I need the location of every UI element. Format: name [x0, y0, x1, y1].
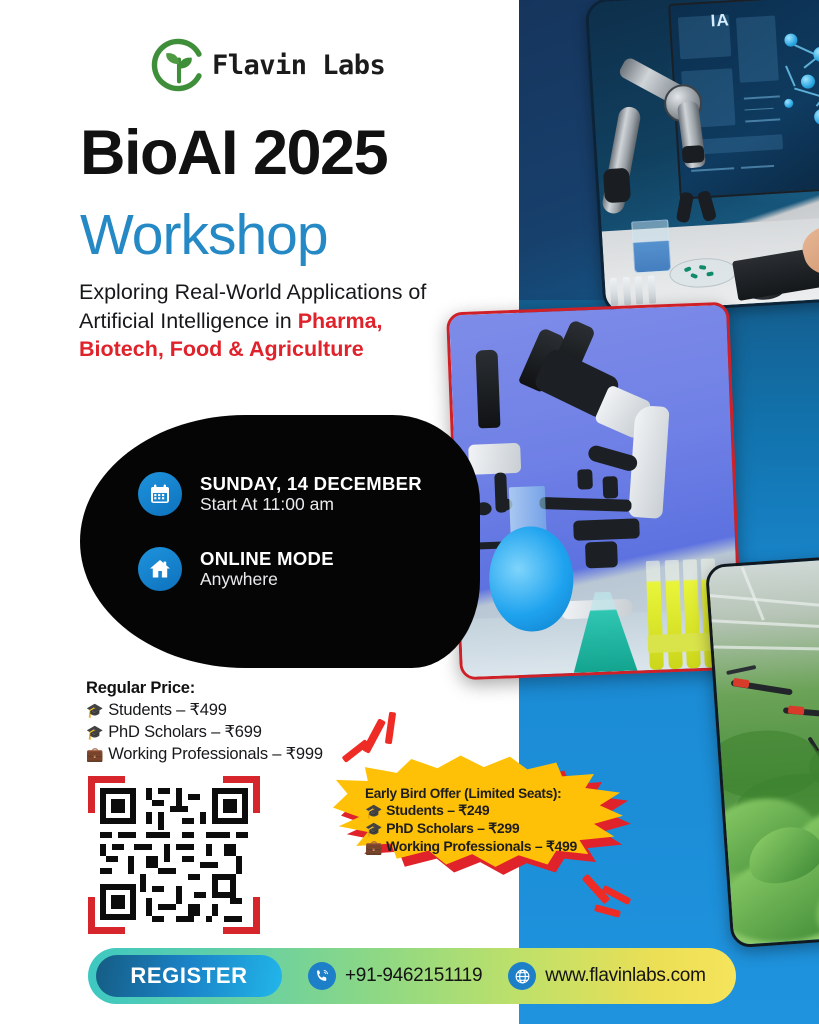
tagline: Exploring Real-World Applications of Art… — [79, 278, 439, 364]
event-mode-desc: Anywhere — [200, 569, 334, 590]
brand-logo: Flavin Labs — [150, 36, 385, 94]
event-details-panel — [80, 415, 480, 668]
regular-price-item: 🎓 PhD Scholars – ₹699 — [86, 722, 386, 742]
event-mode-row: ONLINE MODE Anywhere — [138, 547, 334, 591]
footer-contact-bar: REGISTER +91-9462151119 www.flavinlabs.c… — [88, 948, 736, 1004]
poster-canvas: IA — [0, 0, 819, 1024]
phone-contact[interactable]: +91-9462151119 — [308, 962, 482, 990]
qr-corner-mark — [223, 897, 260, 934]
event-date-row: SUNDAY, 14 DECEMBER Start At 11:00 am — [138, 472, 422, 516]
website-url: www.flavinlabs.com — [545, 965, 705, 987]
brand-name: Flavin Labs — [212, 50, 385, 81]
graduation-cap-emoji: 🎓 — [86, 703, 103, 717]
graduation-cap-emoji: 🎓 — [86, 725, 103, 739]
briefcase-emoji: 💼 — [86, 747, 103, 761]
regular-price-item: 💼 Working Professionals – ₹999 — [86, 744, 386, 764]
calendar-icon — [138, 472, 182, 516]
ai-robotic-lab-photo: IA — [585, 0, 819, 316]
page-subtitle: Workshop — [80, 207, 328, 264]
beaker — [631, 220, 671, 274]
page-title: BioAI 2025 — [80, 122, 387, 185]
early-bird-item: 🎓 Students – ₹249 — [365, 802, 621, 819]
early-bird-item: 💼 Working Professionals – ₹499 — [365, 838, 621, 855]
regular-price-heading: Regular Price: — [86, 679, 386, 698]
website-contact[interactable]: www.flavinlabs.com — [508, 962, 705, 990]
regular-price-item-label: PhD Scholars – ₹699 — [108, 722, 261, 742]
registration-qr-code[interactable] — [88, 776, 260, 934]
phone-number: +91-9462151119 — [345, 965, 482, 987]
event-date-title: SUNDAY, 14 DECEMBER — [200, 473, 422, 494]
regular-price-item-label: Students – ₹499 — [108, 700, 227, 720]
graduation-cap-emoji: 🎓 — [365, 822, 382, 836]
regular-price-block: Regular Price: 🎓 Students – ₹499 🎓 PhD S… — [86, 679, 386, 764]
sprout-circle-logo-icon — [150, 36, 208, 94]
spark-line — [385, 712, 396, 745]
early-bird-item-label: Working Professionals – ₹499 — [386, 838, 577, 855]
briefcase-emoji: 💼 — [365, 840, 382, 854]
home-icon — [138, 547, 182, 591]
event-date-desc: Start At 11:00 am — [200, 494, 422, 515]
early-bird-block: Early Bird Offer (Limited Seats): 🎓 Stud… — [365, 786, 621, 855]
early-bird-item-label: Students – ₹249 — [386, 802, 489, 819]
graduation-cap-emoji: 🎓 — [365, 804, 382, 818]
qr-corner-mark — [88, 776, 125, 813]
event-mode-title: ONLINE MODE — [200, 548, 334, 569]
microscope-lab-photo — [446, 302, 743, 681]
qr-corner-mark — [223, 776, 260, 813]
early-bird-item-label: PhD Scholars – ₹299 — [386, 820, 519, 837]
early-bird-item: 🎓 PhD Scholars – ₹299 — [365, 820, 621, 837]
register-button[interactable]: REGISTER — [96, 955, 282, 997]
regular-price-item-label: Working Professionals – ₹999 — [108, 744, 323, 764]
phone-icon — [308, 962, 336, 990]
regular-price-item: 🎓 Students – ₹499 — [86, 700, 386, 720]
qr-corner-mark — [88, 897, 125, 934]
early-bird-heading: Early Bird Offer (Limited Seats): — [365, 786, 621, 801]
globe-icon — [508, 962, 536, 990]
